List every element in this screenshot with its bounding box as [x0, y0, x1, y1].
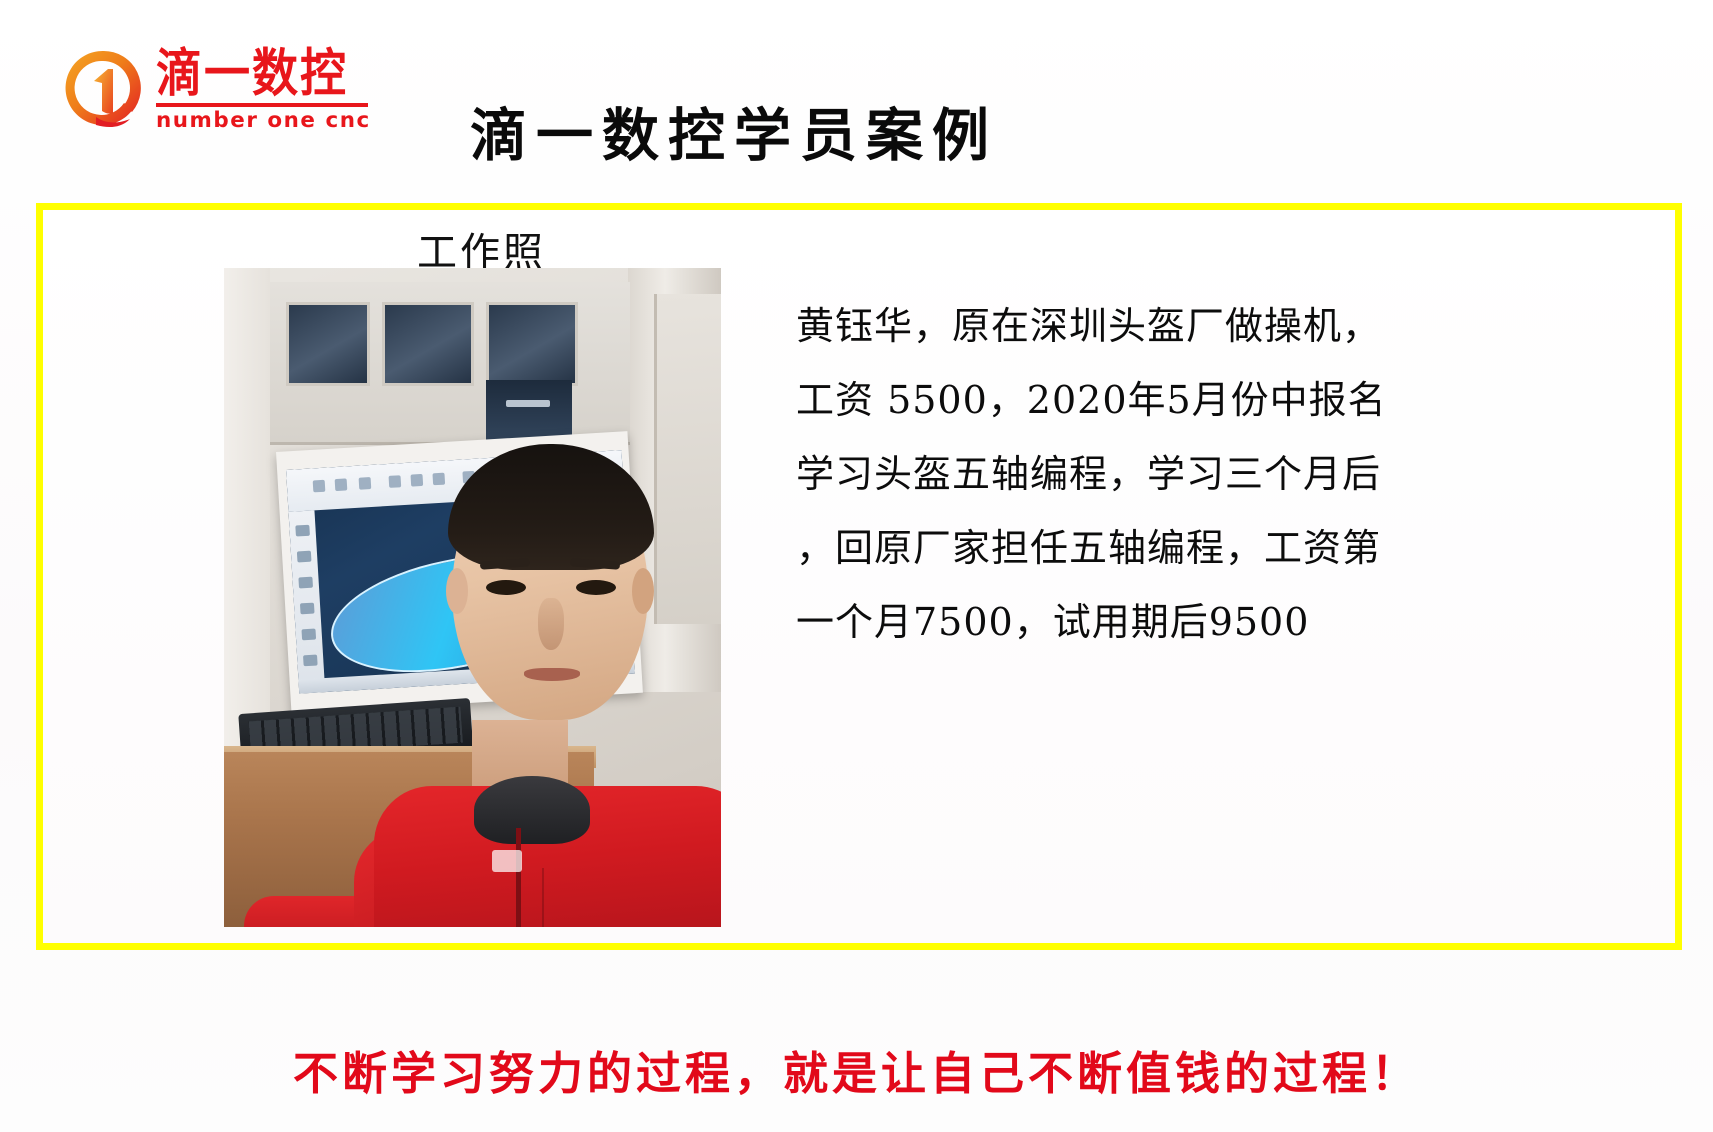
story-line: 工资 5500，2020年5月份中报名: [796, 363, 1536, 437]
slide-canvas: 滴一数控 number one cnc 滴一数控学员案例 工作照: [0, 0, 1713, 1132]
student-story-text: 黄钰华，原在深圳头盔厂做操机， 工资 5500，2020年5月份中报名 学习头盔…: [796, 289, 1536, 659]
photo-cabinet-dark-pane: [486, 380, 572, 442]
photo-person-eye-right: [576, 580, 616, 595]
story-line: 学习头盔五轴编程，学习三个月后: [796, 437, 1536, 511]
photo-person-mouth: [524, 668, 580, 681]
photo-cabinet-pane: [486, 302, 578, 386]
logo-english-name: number one cnc: [156, 109, 372, 131]
story-line: ，回原厂家担任五轴编程，工资第: [796, 511, 1536, 585]
photo-jacket-zipper: [516, 828, 521, 927]
student-work-photo: [224, 268, 721, 927]
photo-cabinet-pane: [382, 302, 474, 386]
logo-chinese-name: 滴一数控: [156, 47, 368, 99]
story-line: 一个月7500，试用期后9500: [796, 585, 1536, 659]
photo-person-ear-left: [446, 568, 468, 614]
photo-person-collar: [474, 776, 590, 844]
photo-person-ear-right: [632, 568, 654, 614]
page-title: 滴一数控学员案例: [470, 105, 1170, 167]
brand-logo: 滴一数控 number one cnc: [60, 38, 380, 138]
photo-door: [654, 294, 721, 624]
photo-jacket-badge: [492, 850, 522, 872]
logo-wordmark: 滴一数控 number one cnc: [156, 46, 368, 131]
photo-cabinet-pane: [286, 302, 370, 386]
photo-jacket-seam: [542, 868, 544, 927]
circle-number-one-icon: [60, 45, 146, 131]
photo-cabinet-handle: [506, 400, 550, 407]
photo-person-nose: [538, 598, 564, 650]
story-line: 黄钰华，原在深圳头盔厂做操机，: [796, 289, 1536, 363]
footer-slogan: 不断学习努力的过程，就是让自己不断值钱的过程！: [0, 1048, 1713, 1100]
photo-person-eye-left: [486, 580, 526, 595]
